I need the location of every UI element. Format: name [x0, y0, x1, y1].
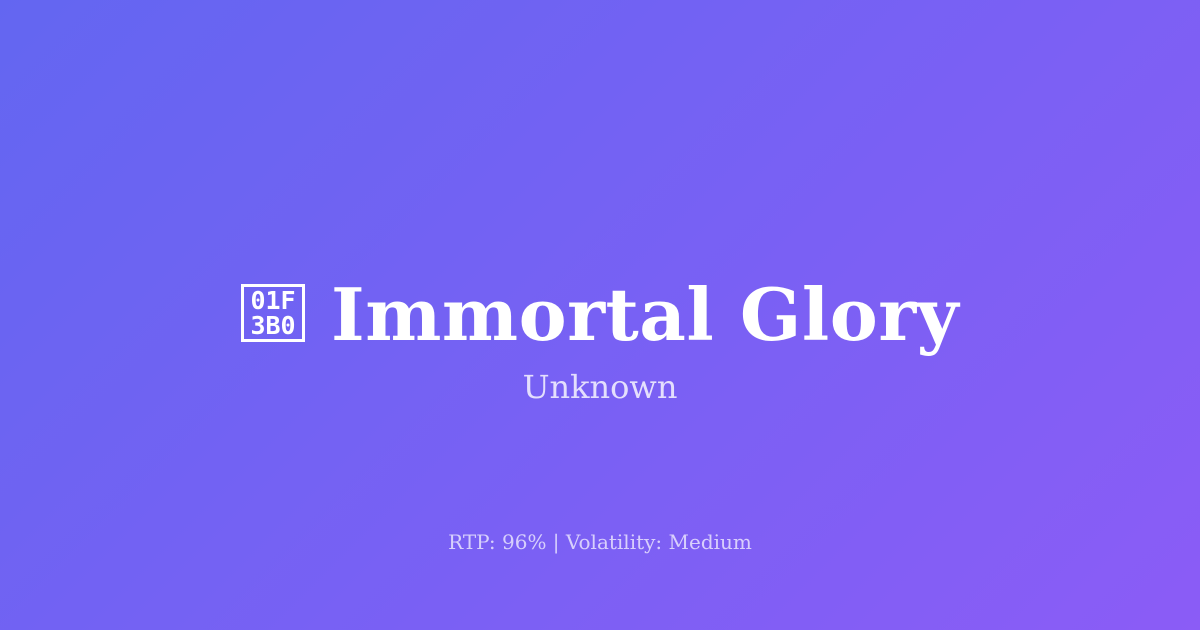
slot-machine-icon: 01F 3B0 — [241, 284, 305, 342]
game-title: Immortal Glory — [331, 277, 959, 353]
tofu-codepoint-top: 01F — [250, 288, 295, 313]
tofu-codepoint-bottom: 3B0 — [250, 313, 295, 338]
game-subtitle: Unknown — [0, 365, 1200, 409]
game-og-card: 01F 3B0 Immortal Glory Unknown RTP: 96% … — [0, 0, 1200, 630]
game-stats: RTP: 96% | Volatility: Medium — [0, 528, 1200, 556]
